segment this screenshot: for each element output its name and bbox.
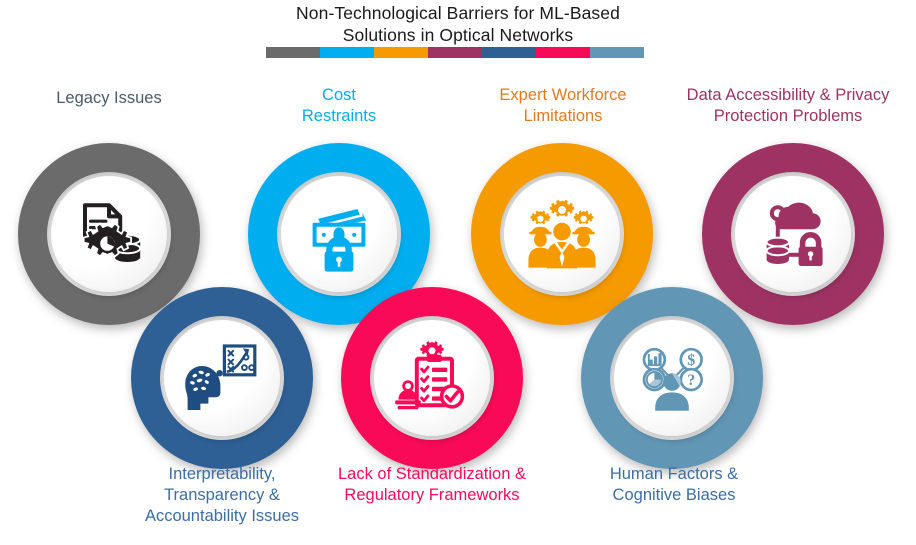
workers-gears-icon	[522, 194, 602, 274]
node-label-cost-restraints: Cost Restraints	[255, 85, 423, 127]
title-rule-segment-0	[266, 47, 320, 58]
page-title: Non-Technological Barriers for ML-Based …	[0, 2, 916, 46]
title-rule-segment-5	[536, 47, 590, 58]
svg-text:?: ?	[687, 372, 695, 389]
brain-head-scatter-icon	[182, 338, 262, 418]
node-disc-legacy-issues	[51, 176, 167, 292]
person-decision-network-icon: $?	[632, 338, 712, 418]
title-line-1: Non-Technological Barriers for ML-Based	[0, 2, 916, 24]
clipboard-stamp-check-icon	[392, 338, 472, 418]
title-rule-segment-1	[320, 47, 374, 58]
title-rule-segment-2	[374, 47, 428, 58]
node-disc-human-factors-cognitive-biases: $?	[614, 320, 730, 436]
node-disc-data-accessibility-privacy	[735, 176, 851, 292]
document-gear-database-icon	[69, 194, 149, 274]
node-disc-cost-restraints	[281, 176, 397, 292]
title-rule-segment-3	[428, 47, 482, 58]
node-label-legacy-issues: Legacy Issues	[19, 88, 199, 109]
cloud-database-lock-icon	[753, 194, 833, 274]
node-disc-lack-of-standardization	[374, 320, 490, 436]
svg-text:$: $	[687, 352, 695, 369]
node-label-expert-workforce-limitations: Expert Workforce Limitations	[472, 85, 654, 127]
node-label-data-accessibility-privacy: Data Accessibility & Privacy Protection …	[660, 85, 916, 127]
title-rule-segment-4	[482, 47, 536, 58]
node-label-lack-of-standardization: Lack of Standardization & Regulatory Fra…	[330, 464, 534, 506]
node-disc-expert-workforce-limitations	[504, 176, 620, 292]
node-disc-interpretability-transparency-accountability	[164, 320, 280, 436]
title-line-2: Solutions in Optical Networks	[0, 24, 916, 46]
money-lock-icon	[299, 194, 379, 274]
title-color-rule	[266, 47, 644, 58]
title-rule-segment-6	[590, 47, 644, 58]
node-label-human-factors-cognitive-biases: Human Factors & Cognitive Biases	[585, 464, 763, 506]
node-label-interpretability-transparency-accountability: Interpretability, Transparency & Account…	[122, 464, 322, 527]
